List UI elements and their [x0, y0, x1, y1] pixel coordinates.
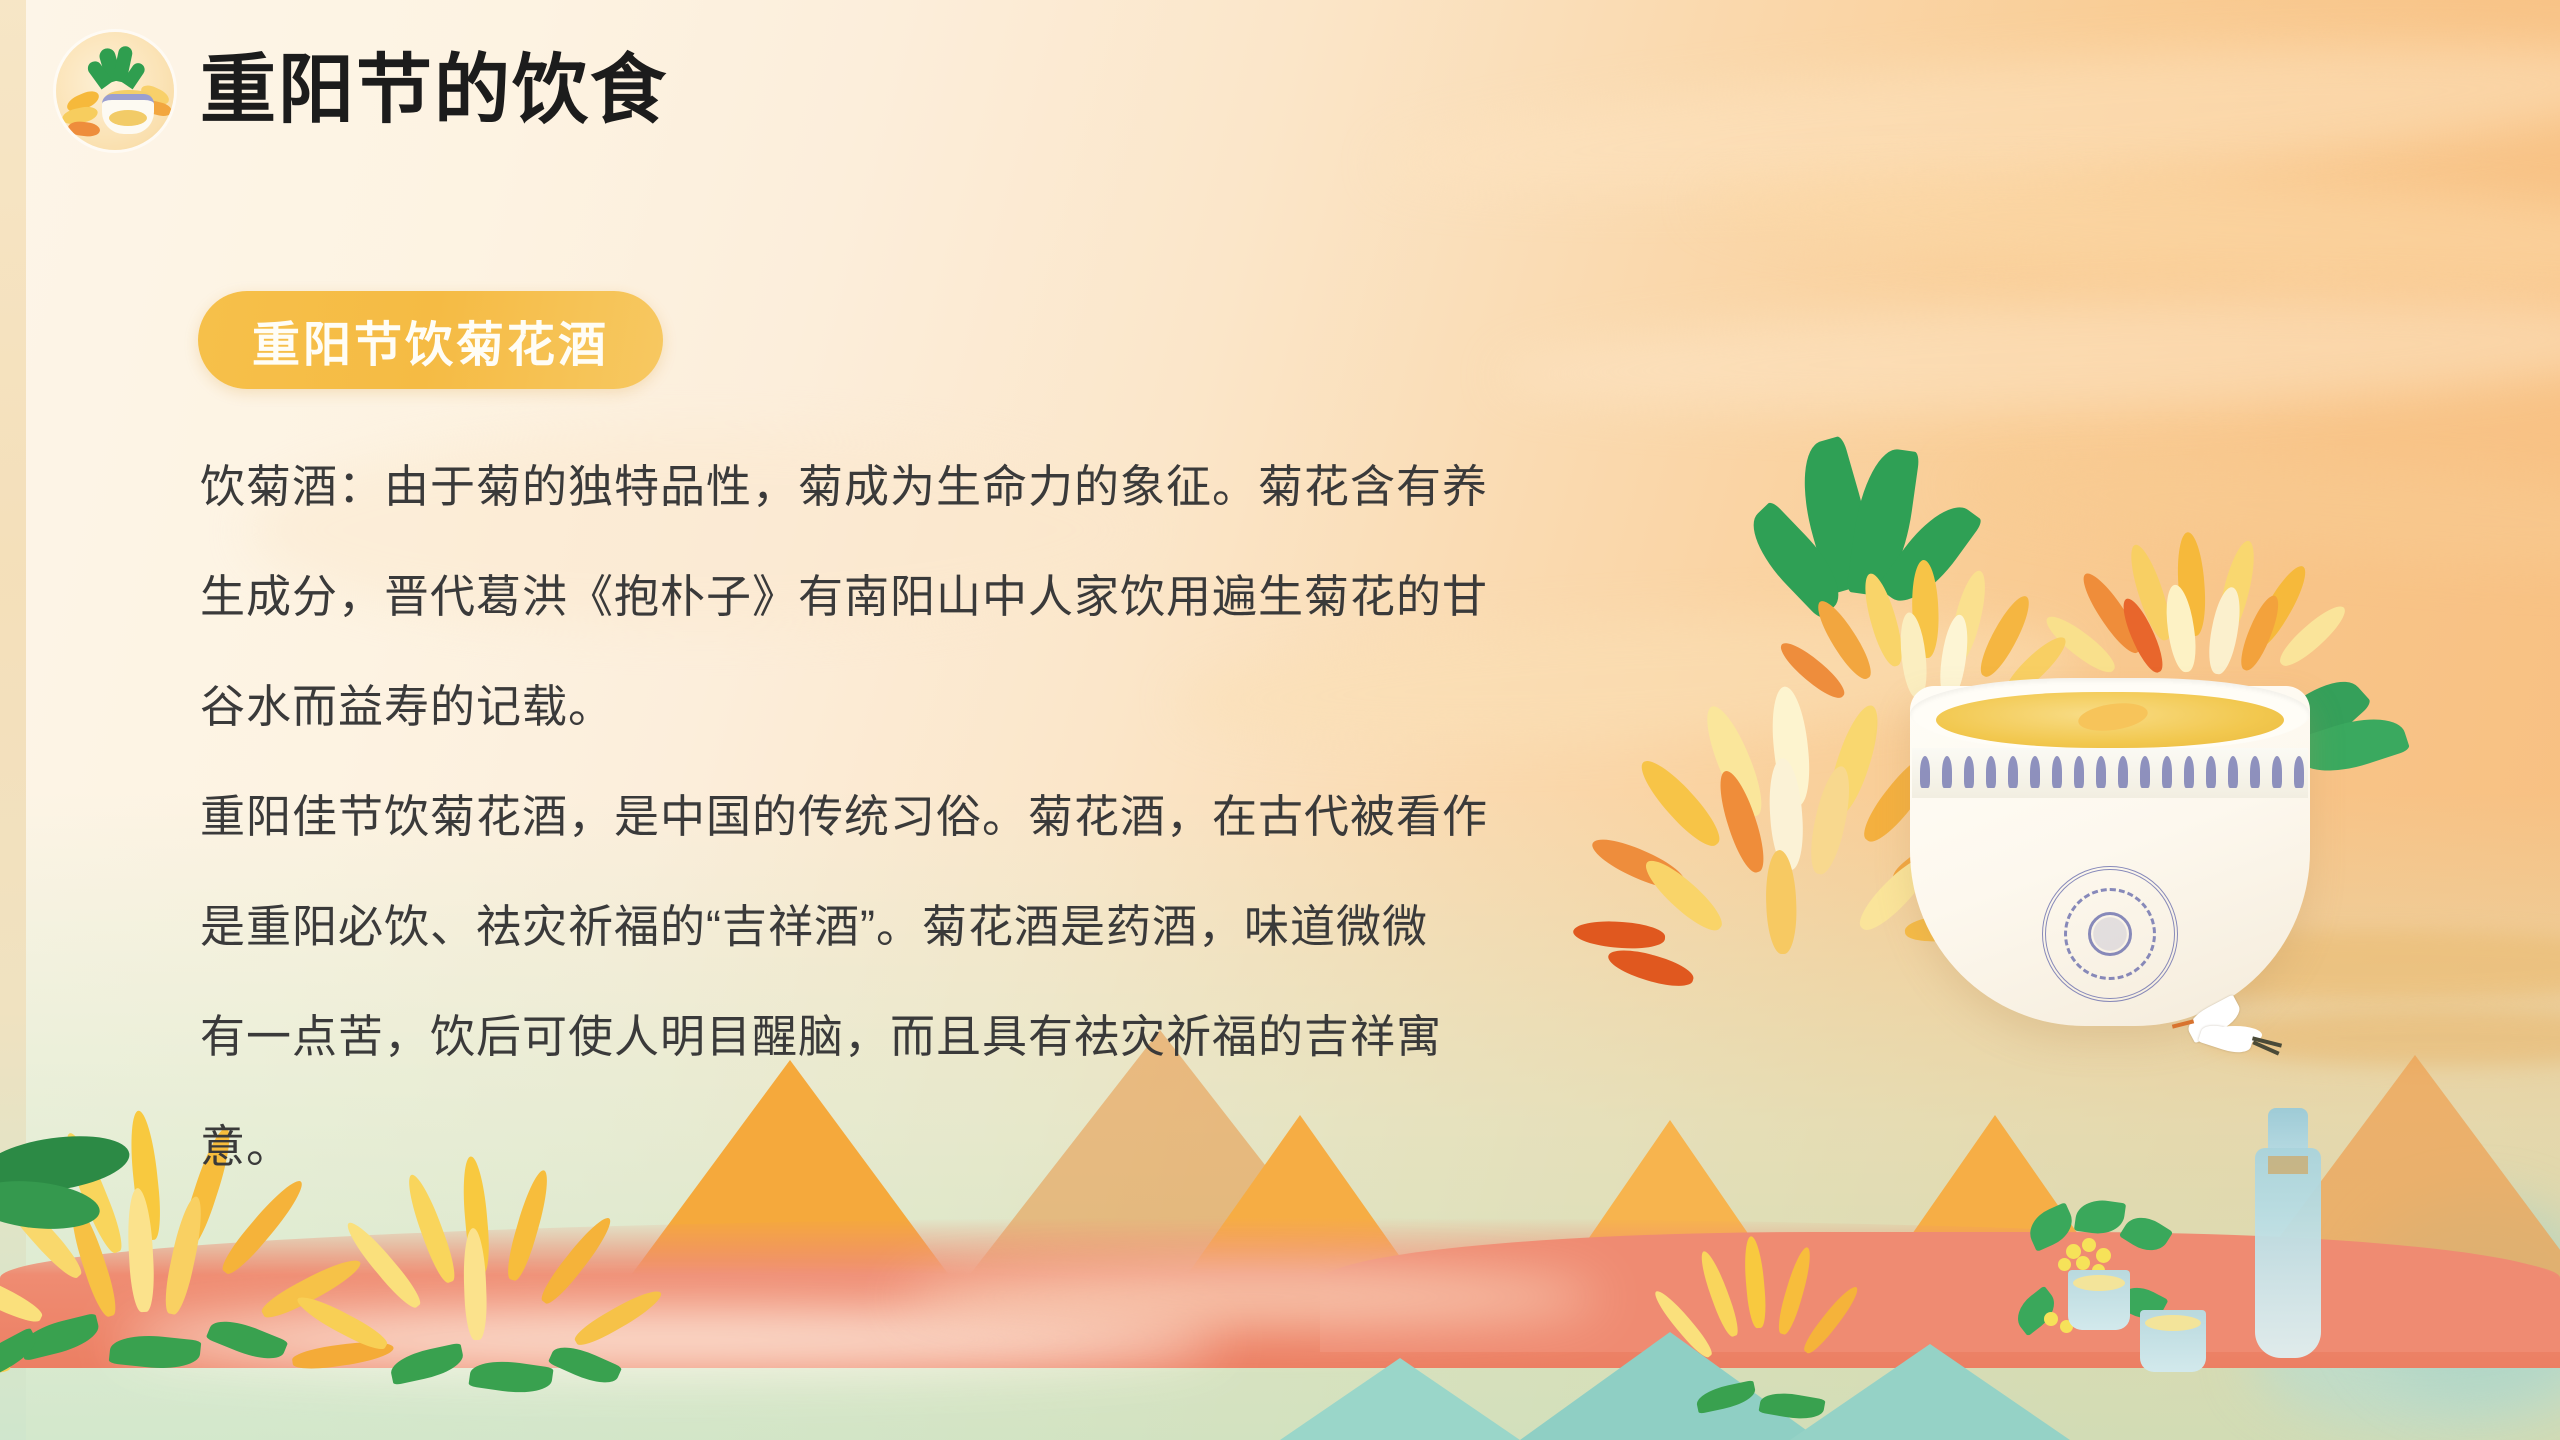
blue-white-pattern-band [1912, 748, 2308, 798]
bottle-cork [2268, 1156, 2308, 1174]
chrysanthemum-wine-bowl-illustration [1660, 430, 2440, 1130]
body-line: 有一点苦，饮后可使人明目醒脑，而且具有祛灾祈福的吉祥寓 [200, 982, 1630, 1092]
body-line: 重阳佳节饮菊花酒，是中国的传统习俗。菊花酒，在古代被看作 [200, 762, 1630, 872]
body-line: 饮菊酒：由于菊的独特品性，菊成为生命力的象征。菊花含有养 [200, 432, 1630, 542]
porcelain-medallion-icon [2042, 866, 2178, 1002]
page-title: 重阳节的饮食 [200, 53, 668, 129]
chrysanthemum-wine-bowl-icon [56, 32, 174, 150]
slide-canvas: 重阳节的饮食 重阳节饮菊花酒 饮菊酒：由于菊的独特品性，菊成为生命力的象征。菊花… [0, 0, 2560, 1440]
wine-bottle-icon [2255, 1148, 2321, 1358]
body-text-block: 饮菊酒：由于菊的独特品性，菊成为生命力的象征。菊花含有养 生成分，晋代葛洪《抱朴… [200, 432, 1630, 1202]
cloud-ribbon-icon [900, 1274, 1600, 1320]
section-badge-label: 重阳节饮菊花酒 [252, 305, 609, 375]
cloud-ribbon-icon [1498, 279, 2560, 431]
mountain-teal-icon [1280, 1358, 1520, 1440]
body-line: 谷水而益寿的记载。 [200, 652, 1630, 762]
wine-cup-icon [2140, 1310, 2206, 1372]
slide-header: 重阳节的饮食 [56, 32, 668, 150]
wine-cup-icon [2068, 1270, 2130, 1330]
section-badge[interactable]: 重阳节饮菊花酒 [198, 291, 663, 389]
body-line: 是重阳必饮、祛灾祈福的“吉祥酒”。菊花酒是药酒，味道微微 [200, 872, 1630, 982]
body-line: 生成分，晋代葛洪《抱朴子》有南阳山中人家饮用遍生菊花的甘 [200, 542, 1630, 652]
body-line: 意。 [200, 1092, 1630, 1202]
chrysanthemum-flower-icon [1640, 1230, 1900, 1440]
